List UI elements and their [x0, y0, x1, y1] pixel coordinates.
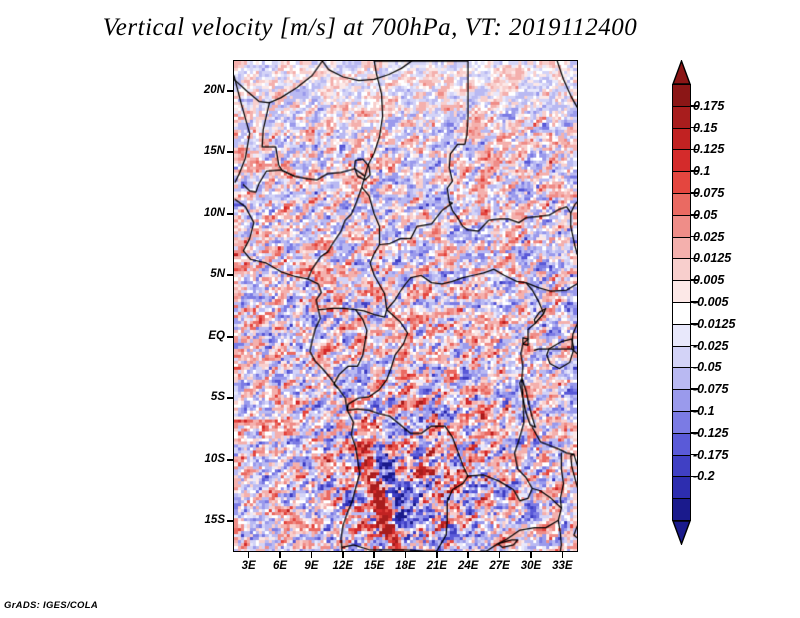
- footer-credit: GrADS: IGES/COLA: [4, 600, 98, 611]
- lat-tick-mark: [227, 397, 233, 399]
- colorbar-segment: [672, 455, 691, 478]
- colorbar-segment: [672, 302, 691, 325]
- colorbar-tick-mark: [691, 192, 698, 194]
- map-plot-area: [233, 60, 578, 552]
- lon-tick-mark: [562, 552, 564, 558]
- lat-tick-mark: [227, 459, 233, 461]
- lon-tick-label: 12E: [326, 560, 360, 572]
- lon-tick-mark: [248, 552, 250, 558]
- colorbar-tick-mark: [691, 214, 698, 216]
- colorbar-segment: [672, 171, 691, 194]
- colorbar-tick-mark: [691, 454, 698, 456]
- colorbar-segment: [672, 498, 691, 521]
- lon-tick-mark: [530, 552, 532, 558]
- lat-tick-mark: [227, 520, 233, 522]
- colorbar-segment: [672, 280, 691, 303]
- lon-tick-label: 30E: [514, 560, 548, 572]
- lat-tick-mark: [227, 90, 233, 92]
- colorbar-tick-mark: [691, 170, 698, 172]
- lon-tick-mark: [499, 552, 501, 558]
- colorbar-tick-mark: [691, 323, 698, 325]
- lat-tick-mark: [227, 213, 233, 215]
- colorbar-tick-mark: [691, 236, 698, 238]
- colorbar-segment: [672, 84, 691, 107]
- lat-tick-label: 5S: [187, 391, 225, 403]
- colorbar-segment: [672, 215, 691, 238]
- colorbar-tick-mark: [691, 127, 698, 129]
- colorbar-tick-mark: [691, 301, 698, 303]
- lat-tick-mark: [227, 151, 233, 153]
- lat-tick-label: EQ: [187, 330, 225, 342]
- lat-tick-label: 15S: [187, 514, 225, 526]
- colorbar-tick-mark: [691, 149, 698, 151]
- colorbar-tick-label: -0.125: [693, 426, 728, 440]
- lon-tick-label: 24E: [451, 560, 485, 572]
- lon-tick-mark: [342, 552, 344, 558]
- colorbar-tick-mark: [691, 432, 698, 434]
- country-borders-coastlines: [234, 61, 577, 551]
- colorbar-tick-mark: [691, 388, 698, 390]
- lon-tick-label: 15E: [357, 560, 391, 572]
- colorbar-tick-label: -0.175: [693, 448, 728, 462]
- page-title: Vertical velocity [m/s] at 700hPa, VT: 2…: [0, 14, 740, 42]
- colorbar-tick-mark: [691, 279, 698, 281]
- colorbar-segment: [672, 389, 691, 412]
- colorbar-tick-mark: [691, 345, 698, 347]
- lat-tick-label: 10N: [187, 207, 225, 219]
- colorbar-tick-mark: [691, 105, 698, 107]
- lat-tick-label: 15N: [187, 145, 225, 157]
- colorbar-tick-label: -0.025: [693, 339, 728, 353]
- lon-tick-label: 9E: [294, 560, 328, 572]
- lat-tick-mark: [227, 336, 233, 338]
- colorbar-tick-mark: [691, 367, 698, 369]
- lon-tick-mark: [373, 552, 375, 558]
- colorbar-tick-label: -0.0125: [693, 317, 735, 331]
- colorbar-segment: [672, 258, 691, 281]
- colorbar-tick-label: 0.0125: [693, 251, 731, 265]
- colorbar-tick-label: -0.005: [693, 295, 728, 309]
- lon-tick-mark: [467, 552, 469, 558]
- colorbar-segment: [672, 346, 691, 369]
- lat-tick-label: 10S: [187, 453, 225, 465]
- colorbar-tick-mark: [691, 258, 698, 260]
- colorbar-segment: [672, 128, 691, 151]
- colorbar-segment: [672, 324, 691, 347]
- lon-tick-label: 3E: [232, 560, 266, 572]
- lat-tick-label: 5N: [187, 268, 225, 280]
- colorbar-segment: [672, 476, 691, 499]
- colorbar-segment: [672, 367, 691, 390]
- lon-tick-mark: [405, 552, 407, 558]
- colorbar-segment: [672, 149, 691, 172]
- colorbar: [672, 84, 691, 520]
- lat-tick-label: 20N: [187, 84, 225, 96]
- lon-tick-mark: [311, 552, 313, 558]
- lon-tick-mark: [279, 552, 281, 558]
- colorbar-segment: [672, 433, 691, 456]
- lon-tick-label: 6E: [263, 560, 297, 572]
- colorbar-tick-mark: [691, 410, 698, 412]
- colorbar-segment: [672, 411, 691, 434]
- colorbar-tick-mark: [691, 476, 698, 478]
- lon-tick-label: 27E: [483, 560, 517, 572]
- lon-tick-label: 18E: [389, 560, 423, 572]
- colorbar-arrow-top-icon: [672, 60, 691, 84]
- colorbar-arrow-bottom-icon: [672, 520, 691, 544]
- colorbar-segment: [672, 193, 691, 216]
- colorbar-segment: [672, 237, 691, 260]
- lon-tick-label: 21E: [420, 560, 454, 572]
- colorbar-segment: [672, 106, 691, 129]
- colorbar-tick-label: -0.075: [693, 382, 728, 396]
- lon-tick-mark: [436, 552, 438, 558]
- lon-tick-label: 33E: [545, 560, 579, 572]
- lat-tick-mark: [227, 274, 233, 276]
